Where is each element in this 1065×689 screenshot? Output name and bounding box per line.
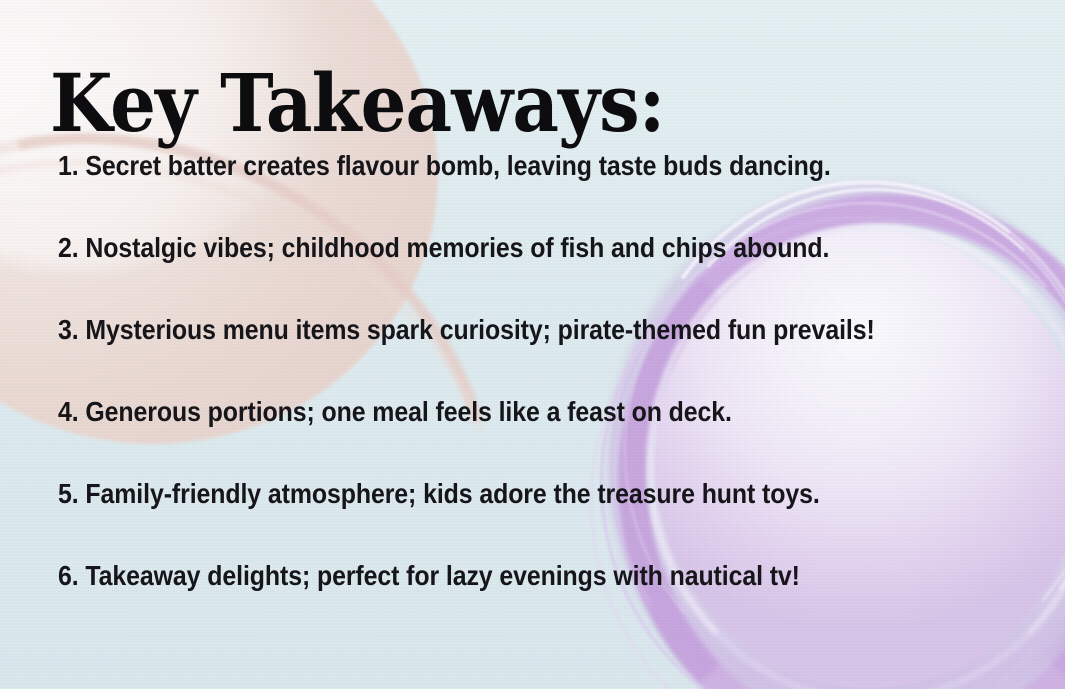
page-title: Key Takeaways:	[50, 60, 664, 146]
list-item: 6. Takeaway delights; perfect for lazy e…	[58, 562, 918, 644]
list-item: 4. Generous portions; one meal feels lik…	[58, 398, 918, 480]
content-layer: Key Takeaways: 1. Secret batter creates …	[0, 0, 1065, 689]
list-item: 3. Mysterious menu items spark curiosity…	[58, 316, 918, 398]
list-item: 2. Nostalgic vibes; childhood memories o…	[58, 234, 918, 316]
takeaway-list: 1. Secret batter creates flavour bomb, l…	[58, 152, 1008, 644]
list-item: 1. Secret batter creates flavour bomb, l…	[58, 152, 918, 234]
takeaways-card: Key Takeaways: 1. Secret batter creates …	[0, 0, 1065, 689]
list-item: 5. Family-friendly atmosphere; kids ador…	[58, 480, 918, 562]
